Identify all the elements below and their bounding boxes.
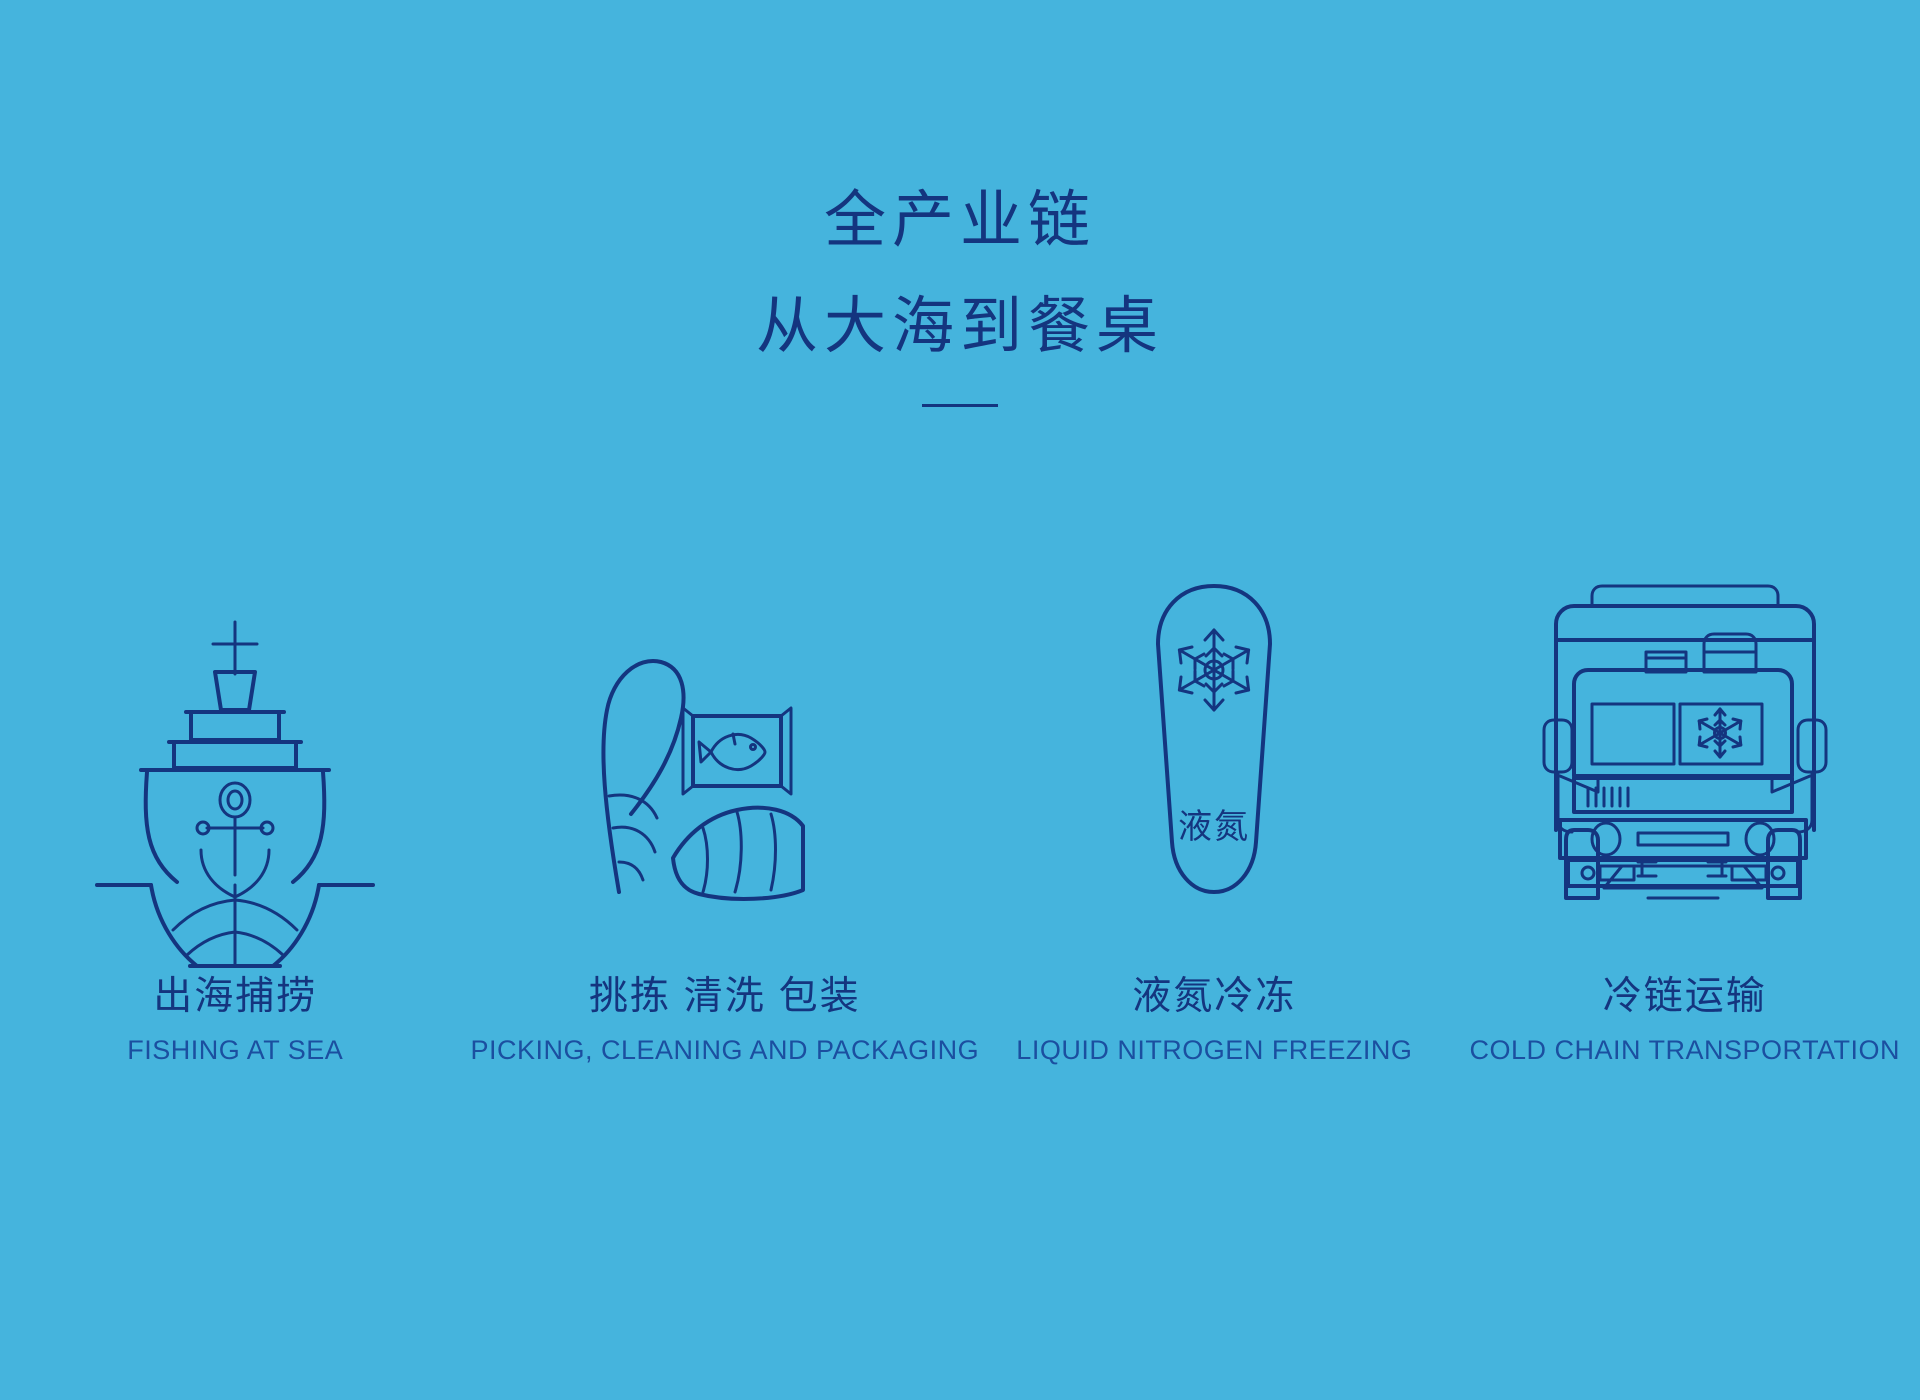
liquid-nitrogen-tank-icon: 液氮 bbox=[1104, 580, 1324, 900]
icon-container bbox=[565, 520, 885, 900]
step-label-en: PICKING, CLEANING AND PACKAGING bbox=[470, 1035, 979, 1066]
step-cold-chain-transportation: 冷链运输 COLD CHAIN TRANSPORTATION bbox=[1450, 520, 1920, 1066]
step-label-cn: 挑拣 清洗 包装 bbox=[470, 976, 979, 1019]
step-picking-cleaning-packaging: 挑拣 清洗 包装 PICKING, CLEANING AND PACKAGING bbox=[470, 520, 979, 1066]
step-fishing-at-sea: 出海捕捞 FISHING AT SEA bbox=[0, 520, 470, 1066]
step-label-cn: 冷链运输 bbox=[1470, 976, 1901, 1019]
step-label-cn: 液氮冷冻 bbox=[1016, 976, 1412, 1019]
icon-container bbox=[85, 520, 385, 900]
step-label-en: COLD CHAIN TRANSPORTATION bbox=[1470, 1035, 1901, 1066]
infographic-page: 全产业链 从大海到餐桌 bbox=[0, 0, 1920, 1400]
step-labels: 冷链运输 COLD CHAIN TRANSPORTATION bbox=[1470, 976, 1901, 1066]
refrigerated-truck-icon bbox=[1540, 580, 1830, 900]
header: 全产业链 从大海到餐桌 bbox=[0, 0, 1920, 407]
step-label-en: FISHING AT SEA bbox=[127, 1035, 343, 1066]
fishing-boat-anchor-icon bbox=[85, 600, 385, 900]
icon-container: 液氮 bbox=[1104, 520, 1324, 900]
tank-label: 液氮 bbox=[1178, 808, 1250, 846]
title-divider bbox=[922, 404, 998, 407]
step-label-en: LIQUID NITROGEN FREEZING bbox=[1016, 1035, 1412, 1066]
icon-container bbox=[1540, 520, 1830, 900]
snowflake-icon bbox=[1699, 709, 1741, 757]
step-label-cn: 出海捕捞 bbox=[127, 976, 343, 1019]
process-steps: 出海捕捞 FISHING AT SEA bbox=[0, 520, 1920, 1066]
step-labels: 液氮冷冻 LIQUID NITROGEN FREEZING bbox=[1016, 976, 1412, 1066]
step-labels: 挑拣 清洗 包装 PICKING, CLEANING AND PACKAGING bbox=[470, 976, 979, 1066]
page-title-primary: 全产业链 bbox=[0, 190, 1920, 252]
hands-fish-package-icon bbox=[565, 600, 885, 900]
page-title-secondary: 从大海到餐桌 bbox=[0, 296, 1920, 358]
step-labels: 出海捕捞 FISHING AT SEA bbox=[127, 976, 343, 1066]
step-liquid-nitrogen-freezing: 液氮 液氮冷冻 LIQUID NITROGEN FREEZING bbox=[979, 520, 1449, 1066]
snowflake-icon bbox=[1180, 630, 1249, 710]
